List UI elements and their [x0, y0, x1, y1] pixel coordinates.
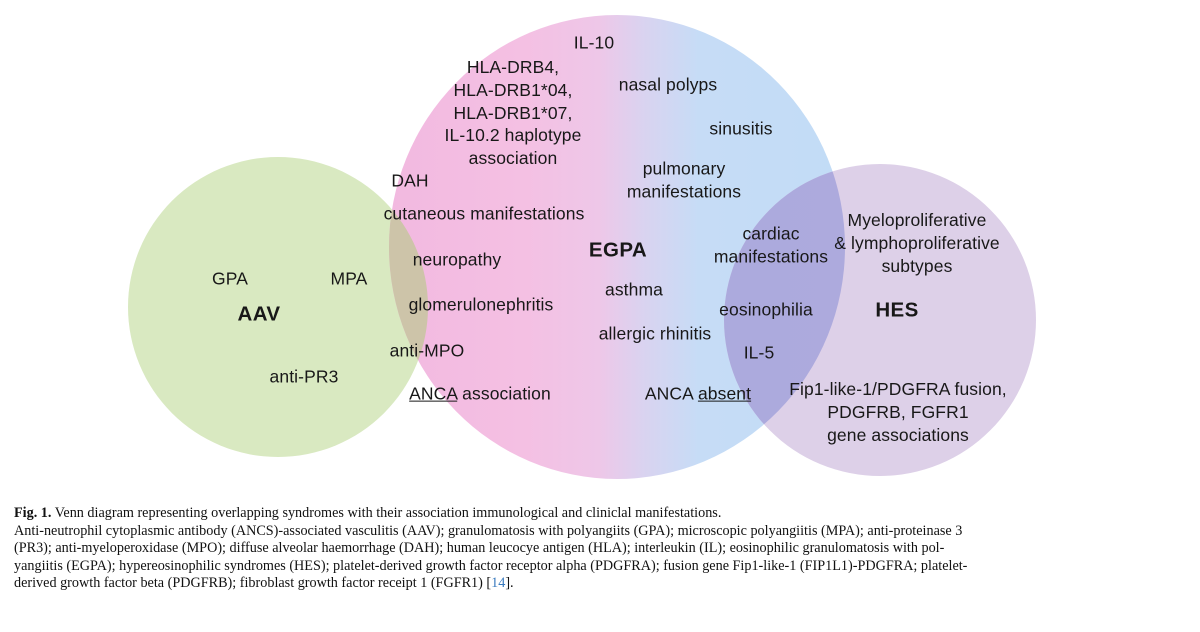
caption-line-1: Fig. 1. Venn diagram representing overla… [14, 505, 1190, 523]
label-anti-mpo: anti-MPO [390, 340, 465, 363]
absent-underlined-word: absent [698, 384, 751, 404]
caption-fig-label: Fig. 1. [14, 505, 51, 521]
label-myeloproliferative-subtypes: Myeloproliferative & lymphoproliferative… [834, 209, 1000, 277]
label-anti-pr3: anti-PR3 [270, 366, 339, 389]
caption-line-2: Anti-neutrophil cytoplasmic antibody (AN… [14, 523, 1190, 541]
label-gpa: GPA [212, 268, 248, 291]
label-sinusitis: sinusitis [709, 118, 772, 141]
caption-line-3: (PR3); anti-myeloperoxidase (MPO); diffu… [14, 540, 1190, 558]
label-asthma: asthma [605, 279, 663, 302]
label-cardiac-manifestations: cardiac manifestations [714, 222, 828, 268]
caption-line-5: derived growth factor beta (PDGFRB); fib… [14, 575, 1190, 593]
label-eosinophilia: eosinophilia [719, 299, 813, 322]
caption-line-4: yangiitis (EGPA); hypereosinophilic synd… [14, 558, 1190, 576]
caption-line-5-pre: derived growth factor beta (PDGFRB); fib… [14, 575, 491, 591]
label-dah: DAH [391, 170, 428, 193]
label-hes-title: HES [875, 298, 918, 325]
caption-line-5-post: ]. [505, 575, 513, 591]
figure-caption: Fig. 1. Venn diagram representing overla… [14, 505, 1190, 593]
label-anca-association: ANCA association [409, 383, 551, 406]
label-egpa-title: EGPA [589, 238, 647, 265]
label-fip1-gene-associations: Fip1-like-1/PDGFRA fusion, PDGFRB, FGFR1… [789, 378, 1007, 446]
citation-reference-14[interactable]: 14 [491, 575, 505, 591]
label-allergic-rhinitis: allergic rhinitis [599, 323, 712, 346]
label-neuropathy: neuropathy [413, 249, 502, 272]
label-anca-absent: ANCA absent [645, 383, 751, 406]
label-cutaneous-manifestations: cutaneous manifestations [384, 203, 585, 226]
label-aav-title: AAV [238, 302, 281, 329]
label-nasal-polyps: nasal polyps [619, 74, 717, 97]
anca-absent-word: ANCA [645, 384, 698, 404]
venn-diagram: GPA AAV anti-PR3 MPA DAH cutaneous manif… [0, 0, 1200, 495]
label-il-10: IL-10 [574, 32, 614, 55]
label-glomerulonephritis: glomerulonephritis [409, 294, 554, 317]
anca-underlined-word: ANCA [409, 384, 457, 404]
label-il-5: IL-5 [744, 342, 775, 365]
label-pulmonary-manifestations: pulmonary manifestations [627, 157, 741, 203]
anca-association-rest: association [457, 384, 551, 404]
figure-root: GPA AAV anti-PR3 MPA DAH cutaneous manif… [0, 0, 1200, 632]
label-mpa: MPA [331, 268, 368, 291]
label-hla-haplotype-block: HLA-DRB4, HLA-DRB1*04, HLA-DRB1*07, IL-1… [445, 56, 582, 170]
caption-line-1-text: Venn diagram representing overlapping sy… [51, 505, 721, 521]
